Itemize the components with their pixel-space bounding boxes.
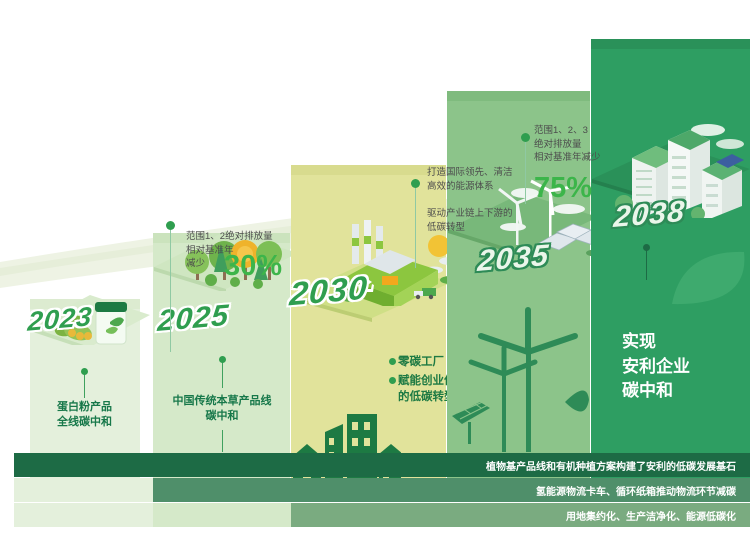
ribbon-left-pad-2	[14, 503, 153, 527]
ribbon-logistics: 氢能源物流卡车、循环纸箱推动物流环节减碳	[153, 478, 750, 502]
leaf-icon	[668, 248, 750, 318]
callout-text-2030: 打造国际领先、清洁 高效的能源体系 驱动产业链上下游的 低碳转型	[427, 167, 513, 233]
column-top-2030	[291, 165, 446, 175]
caption-stem-2025-lower	[222, 430, 223, 452]
column-top-2035	[447, 91, 590, 101]
callout-dot-2025	[166, 221, 175, 230]
ribbon-foundation-text: 植物基产品线和有机种植方案构建了安利的低碳发展基石	[486, 458, 736, 473]
year-label-2023: 2023	[27, 301, 94, 337]
ribbon-production: 用地集约化、生产洁净化、能源低碳化	[291, 503, 750, 527]
ribbon-foundation: 植物基产品线和有机种植方案构建了安利的低碳发展基石	[14, 453, 750, 477]
column-top-2038	[591, 39, 750, 49]
callout-2025: 范围1、2绝对排放量 相对基准年 减少 30%	[186, 216, 321, 301]
callout-line-2038	[525, 142, 526, 204]
milestone-caption-2038: 实现 安利企业 碳中和	[622, 330, 750, 404]
milestone-caption-2025: 中国传统本草产品线 碳中和	[152, 394, 292, 424]
ribbon-logistics-text: 氢能源物流卡车、循环纸箱推动物流环节减碳	[536, 483, 736, 498]
year-label-2035: 2035	[476, 239, 550, 279]
caption-stem-2025	[222, 360, 223, 388]
callout-line-2030	[415, 188, 416, 268]
callout-2038: 范围1、2、3 绝对排放量 相对基准年减少 75%	[534, 110, 649, 223]
wind-turbine-silhouette-icon	[447, 290, 590, 452]
callout-line-2025	[170, 230, 171, 352]
milestone-caption-2023: 蛋白粉产品 全线碳中和	[22, 400, 147, 430]
ribbon-production-text: 用地集约化、生产洁净化、能源低碳化	[566, 508, 736, 523]
ribbon-left-pad-3	[153, 503, 291, 527]
ribbon-left-pad-1	[14, 478, 153, 502]
year-label-2025: 2025	[156, 299, 230, 339]
callout-dot-2038	[521, 133, 530, 142]
callout-value-2025: 30%	[224, 245, 321, 287]
caption-stem-2023	[84, 372, 85, 398]
callout-dot-2030	[411, 179, 420, 188]
callout-text-2038: 范围1、2、3 绝对排放量 相对基准年减少	[534, 125, 601, 164]
caption-stem-2038	[646, 248, 647, 280]
callout-value-2038: 75%	[534, 167, 649, 209]
infographic-canvas: 2023 蛋白粉产品 全线碳中和 2025 中国传统本草产品线 碳中和	[0, 0, 750, 543]
